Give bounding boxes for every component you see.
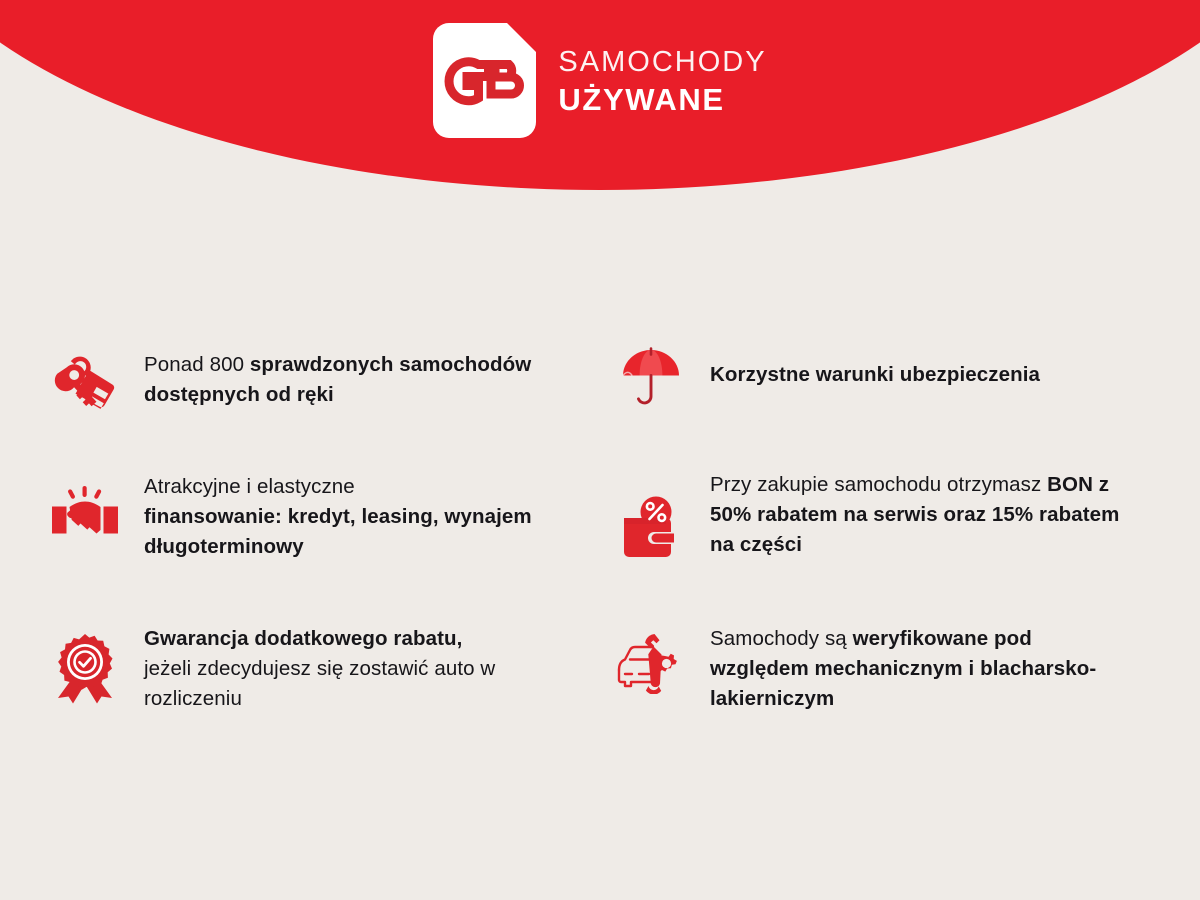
header-banner: SAMOCHODY UŻYWANE [0, 0, 1200, 190]
car-keys-icon [48, 348, 122, 422]
benefit-text-trade-in-discount: Gwarancja dodatkowego rabatu, jeżeli zde… [144, 622, 564, 714]
benefits-column-left: Ponad 800 sprawdzonych samochodów dostęp… [48, 330, 600, 750]
umbrella-icon [614, 340, 688, 414]
benefit-text-verification: Samochody są weryfikowane pod względem m… [710, 622, 1130, 714]
benefit-text-financing: Atrakcyjne i elastyczne finansowanie: kr… [144, 470, 564, 562]
benefit-text-regular: Atrakcyjne i elastyczne [144, 475, 355, 498]
wordmark-line-1: SAMOCHODY [558, 48, 766, 77]
benefit-text-bold: Korzystne warunki ubezpieczenia [710, 363, 1040, 386]
benefit-text-regular: Przy zakupie samochodu otrzymasz [710, 473, 1047, 496]
gb-logo-mark [433, 23, 536, 138]
award-rosette-icon [48, 632, 122, 706]
benefit-item-insurance: Korzystne warunki ubezpieczenia [600, 330, 1152, 470]
banner-content: SAMOCHODY UŻYWANE [0, 0, 1200, 160]
car-wrench-gear-icon [614, 626, 688, 700]
benefit-text-bold: finansowanie: kredyt, leasing, wynajem d… [144, 505, 532, 558]
handshake-icon [48, 478, 122, 552]
benefit-text-service-voucher: Przy zakupie samochodu otrzymasz BON z 5… [710, 468, 1130, 560]
wallet-percent-icon [614, 492, 688, 566]
brand-logo-lockup[interactable]: SAMOCHODY UŻYWANE [433, 23, 766, 138]
benefit-text-cars-available: Ponad 800 sprawdzonych samochodów dostęp… [144, 348, 564, 410]
benefits-grid: Ponad 800 sprawdzonych samochodów dostęp… [0, 330, 1200, 750]
benefit-text-regular: Samochody są [710, 627, 853, 650]
benefit-text-insurance: Korzystne warunki ubezpieczenia [710, 358, 1040, 390]
benefit-item-verification: Samochody są weryfikowane pod względem m… [600, 610, 1152, 750]
benefit-item-trade-in-discount: Gwarancja dodatkowego rabatu, jeżeli zde… [48, 610, 600, 750]
benefits-column-right: Korzystne warunki ubezpieczenia [600, 330, 1152, 750]
benefit-text-bold: Gwarancja dodatkowego rabatu, [144, 627, 462, 650]
benefit-text-regular: Ponad 800 [144, 353, 250, 376]
benefit-text-regular: jeżeli zdecydujesz się zostawić auto w r… [144, 657, 495, 710]
benefit-item-service-voucher: Przy zakupie samochodu otrzymasz BON z 5… [600, 470, 1152, 610]
wordmark-line-2: UŻYWANE [558, 84, 766, 115]
benefit-item-financing: Atrakcyjne i elastyczne finansowanie: kr… [48, 470, 600, 610]
brand-wordmark: SAMOCHODY UŻYWANE [558, 46, 766, 115]
benefit-item-cars-available: Ponad 800 sprawdzonych samochodów dostęp… [48, 330, 600, 470]
